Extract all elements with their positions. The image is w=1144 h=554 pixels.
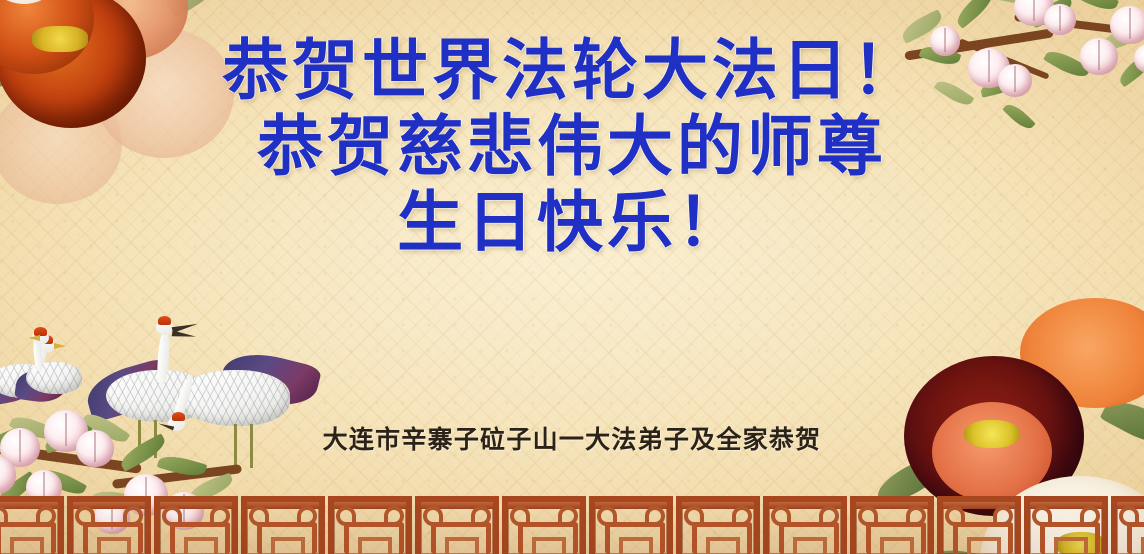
greeting-card: 恭贺世界法轮大法日！ 恭贺慈悲伟大的师尊 生日快乐！ 大连市辛寨子砬子山一大法弟… bbox=[0, 0, 1144, 554]
sender-signature: 大连市辛寨子砬子山一大法弟子及全家恭贺 bbox=[0, 420, 1144, 456]
lattice-shadow bbox=[0, 492, 1144, 554]
background-vignette bbox=[0, 0, 1144, 554]
carved-lattice-railing bbox=[0, 492, 1144, 554]
